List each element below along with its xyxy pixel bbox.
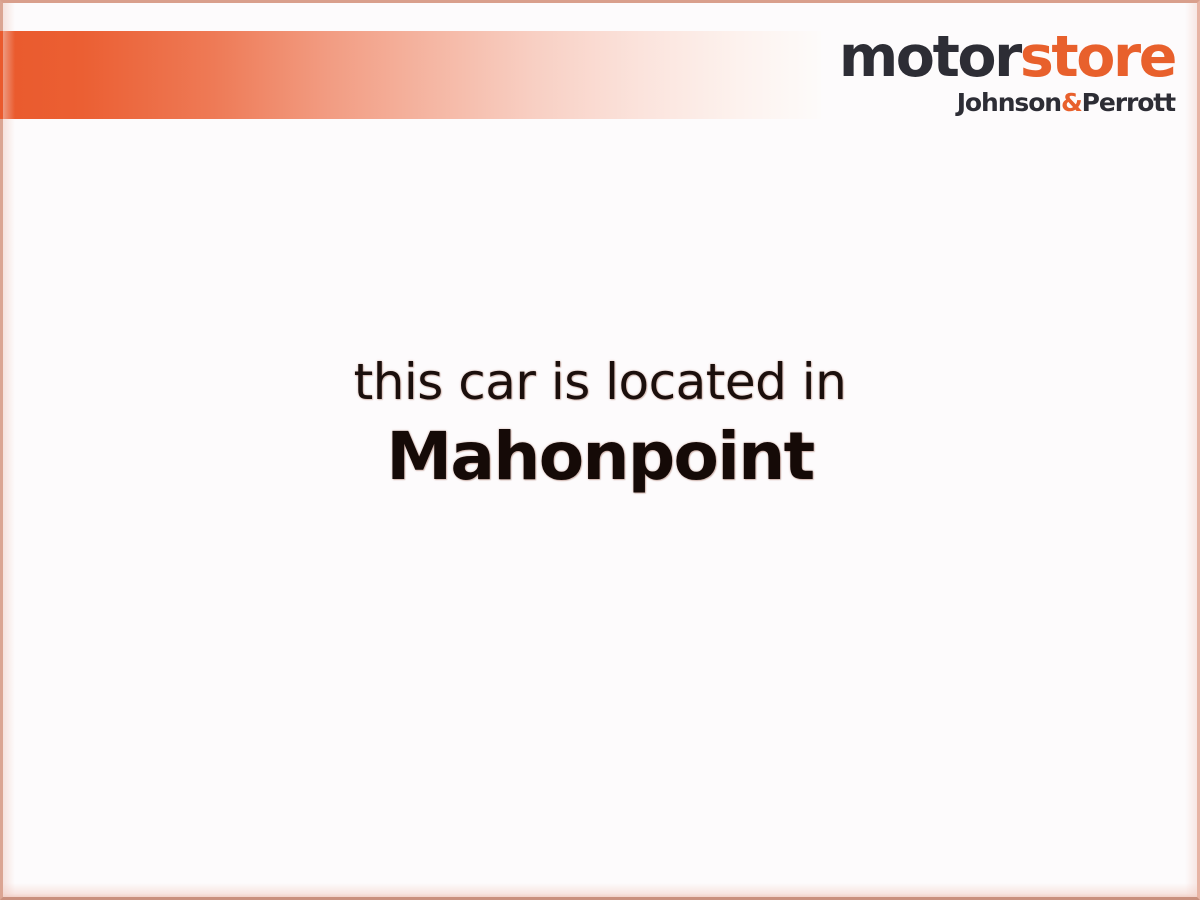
logo-subtitle-johnson: Johnson bbox=[957, 88, 1061, 117]
logo-wordmark-motor: motor bbox=[839, 24, 1020, 90]
bottom-edge-wash bbox=[3, 883, 1197, 897]
logo-subtitle-ampersand: & bbox=[1061, 88, 1082, 117]
orange-gradient-bar bbox=[0, 31, 821, 119]
motorstore-logo: motorstore Johnson&Perrott bbox=[823, 29, 1175, 115]
logo-subtitle: Johnson&Perrott bbox=[823, 90, 1175, 115]
logo-wordmark: motorstore bbox=[823, 29, 1175, 86]
location-message-name: Mahonpoint bbox=[3, 421, 1197, 492]
location-placeholder-card: motorstore Johnson&Perrott this car is l… bbox=[0, 0, 1200, 900]
logo-subtitle-perrott: Perrott bbox=[1082, 88, 1175, 117]
location-message: this car is located in Mahonpoint bbox=[3, 355, 1197, 492]
logo-wordmark-store: store bbox=[1020, 24, 1175, 90]
location-message-intro: this car is located in bbox=[3, 355, 1197, 409]
